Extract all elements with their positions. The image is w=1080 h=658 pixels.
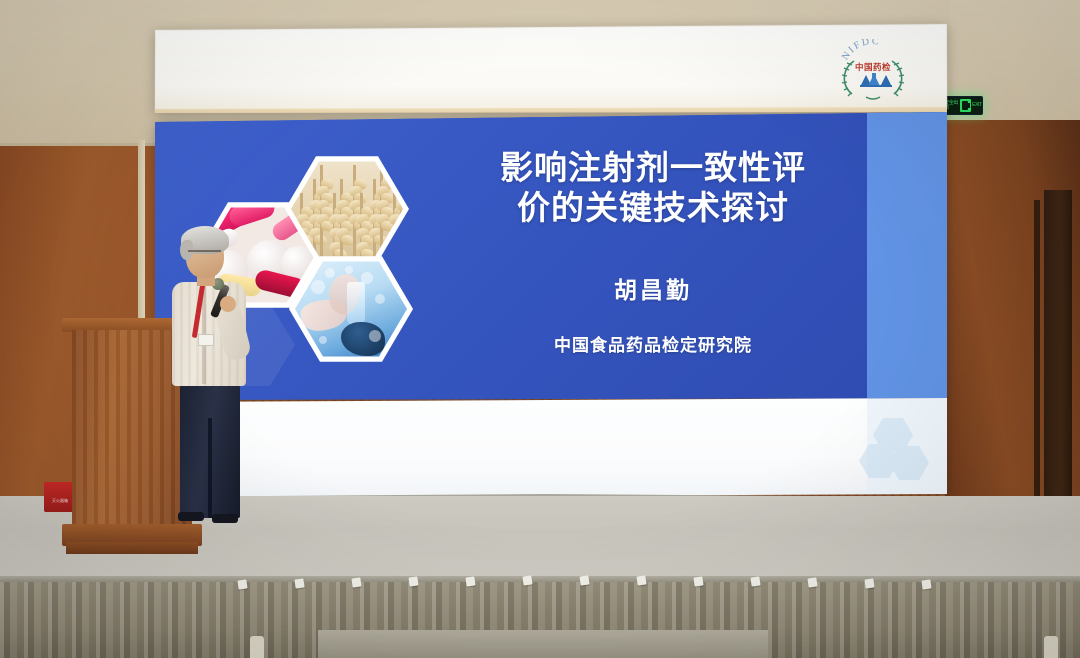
presenter-leg-seam [208, 418, 212, 518]
nifdc-logo: NIFDC 中国药检 [827, 38, 919, 108]
lectern-plinth [66, 542, 198, 554]
slide-speaker-name: 胡昌勤 [433, 271, 873, 305]
presenter-hand [220, 296, 236, 312]
presenter-shoe-right [212, 514, 238, 523]
svg-text:中国药检: 中国药检 [855, 62, 891, 73]
nifdc-emblem-icon: NIFDC 中国药检 [828, 39, 918, 107]
presenter-figure [168, 222, 264, 522]
slide-text-block: 影响注射剂一致性评 价的关键技术探讨 胡昌勤 中国食品药品检定研究院 [433, 148, 873, 356]
conference-hall-scene: 安全出口 EXIT NIFDC 中国药检 [0, 0, 1080, 658]
slide-title-line-1: 影响注射剂一致性评 [433, 148, 873, 188]
backdrop-lower-white-band [155, 398, 947, 498]
presenter-name-badge [198, 334, 214, 346]
projection-backdrop: NIFDC 中国药检 [155, 24, 947, 498]
slide-title-line-2: 价的关键技术探讨 [433, 188, 873, 228]
exit-sign-label-en: EXIT [972, 103, 982, 108]
doorway-dark [1044, 190, 1072, 510]
chair-back [1044, 636, 1058, 658]
presenter-shoe-left [178, 512, 204, 521]
svg-text:NIFDC: NIFDC [840, 39, 881, 62]
chair-back [250, 636, 264, 658]
slide-right-accent-band [867, 112, 947, 400]
hexagon-cluster-watermark [859, 416, 933, 490]
front-seating-row [318, 630, 768, 658]
door-jamb [1034, 200, 1040, 500]
presentation-slide: 影响注射剂一致性评 价的关键技术探讨 胡昌勤 中国食品药品检定研究院 [155, 112, 947, 400]
slide-title: 影响注射剂一致性评 价的关键技术探讨 [433, 148, 873, 229]
slide-organization: 中国食品药品检定研究院 [433, 331, 873, 356]
exit-running-man-icon [960, 99, 971, 112]
exit-sign: 安全出口 EXIT [943, 96, 983, 115]
presenter-glasses [188, 250, 221, 257]
